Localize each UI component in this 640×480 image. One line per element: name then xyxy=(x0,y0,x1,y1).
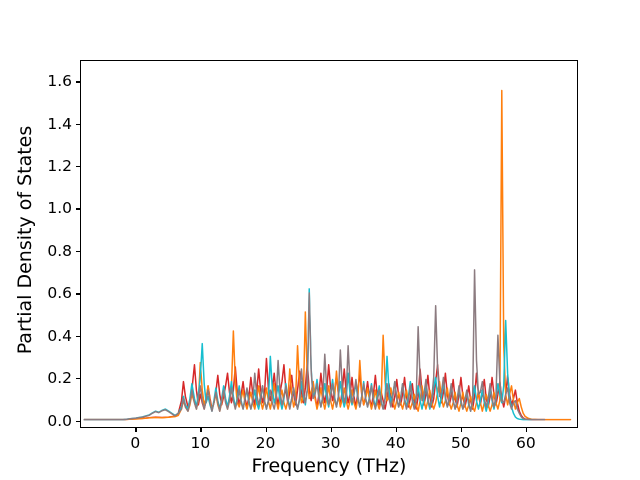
y-tick-label: 1.6 xyxy=(47,72,72,90)
y-tick-mark xyxy=(76,166,80,167)
x-tick-label: 10 xyxy=(191,434,211,452)
y-tick-label: 0.4 xyxy=(47,327,72,345)
x-tick-mark xyxy=(266,428,267,432)
y-tick-label: 0.6 xyxy=(47,284,72,302)
x-tick-mark xyxy=(526,428,527,432)
x-tick-label: 40 xyxy=(386,434,406,452)
y-tick-mark xyxy=(76,336,80,337)
x-tick-label: 0 xyxy=(130,434,140,452)
y-tick-label: 1.2 xyxy=(47,157,72,175)
y-tick-label: 1.4 xyxy=(47,115,72,133)
x-tick-mark xyxy=(461,428,462,432)
y-tick-mark xyxy=(76,421,80,422)
x-axis-label: Frequency (THz) xyxy=(80,455,578,477)
x-tick-mark xyxy=(200,428,201,432)
x-tick-mark xyxy=(135,428,136,432)
y-tick-mark xyxy=(76,293,80,294)
y-tick-mark xyxy=(76,251,80,252)
chart-figure: Partial Density of States 01020304050600… xyxy=(0,0,640,480)
y-tick-label: 1.0 xyxy=(47,199,72,217)
plot-area xyxy=(80,60,578,428)
x-tick-label: 20 xyxy=(256,434,276,452)
y-tick-label: 0.8 xyxy=(47,242,72,260)
y-tick-mark xyxy=(76,124,80,125)
series-group xyxy=(81,61,577,427)
x-tick-label: 60 xyxy=(516,434,536,452)
y-tick-label: 0.2 xyxy=(47,369,72,387)
y-axis-label-wrapper: Partial Density of States xyxy=(14,0,36,480)
x-tick-mark xyxy=(396,428,397,432)
x-tick-label: 30 xyxy=(321,434,341,452)
y-tick-label: 0.0 xyxy=(47,412,72,430)
y-axis-label: Partial Density of States xyxy=(14,0,36,480)
curves-clip xyxy=(81,61,577,427)
x-tick-mark xyxy=(331,428,332,432)
x-tick-label: 50 xyxy=(451,434,471,452)
y-tick-mark xyxy=(76,81,80,82)
y-tick-mark xyxy=(76,378,80,379)
series-line xyxy=(84,91,570,420)
y-tick-mark xyxy=(76,208,80,209)
